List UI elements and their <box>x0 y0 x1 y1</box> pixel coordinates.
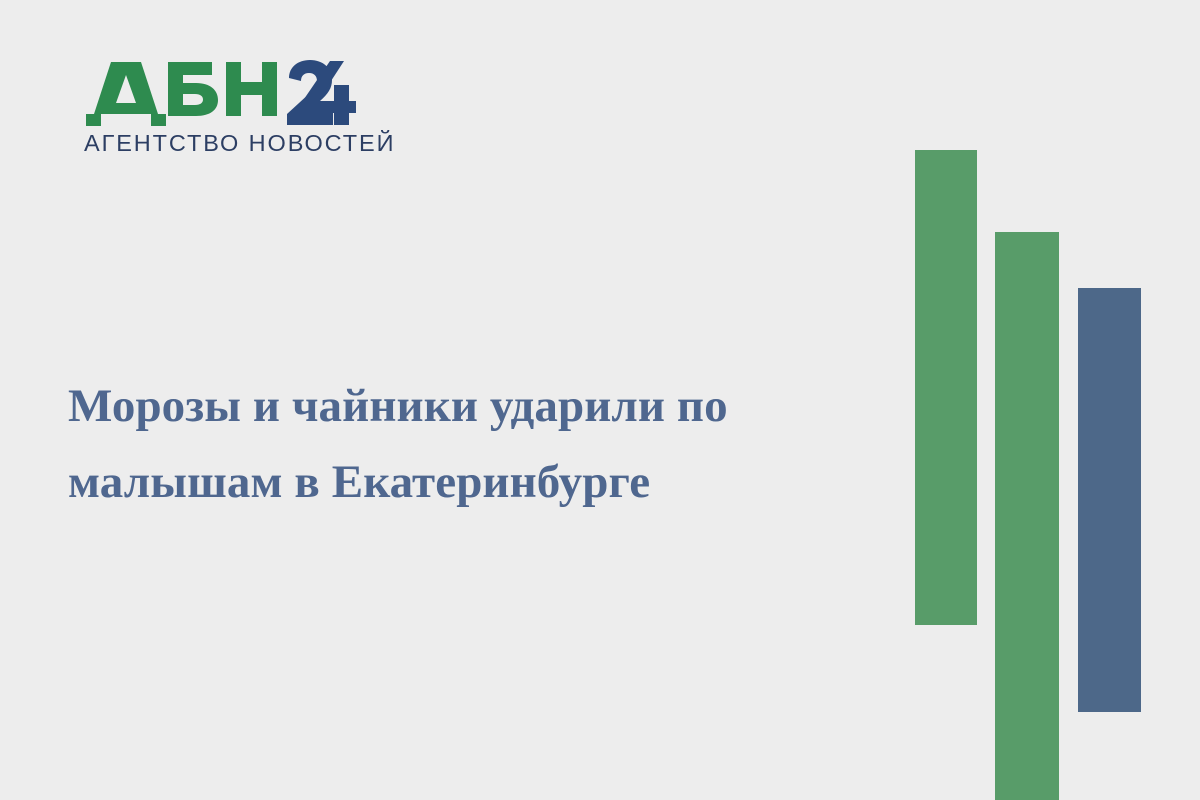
logo-tagline: АГЕНТСТВО НОВОСТЕЙ <box>84 132 374 156</box>
news-card: АГЕНТСТВО НОВОСТЕЙ Морозы и чайники удар… <box>0 0 1200 800</box>
abn24-logo-icon <box>84 56 356 128</box>
page-title: Морозы и чайники ударили по малышам в Ек… <box>68 368 868 520</box>
bar-tall-green <box>915 150 977 625</box>
bar-mid-green <box>995 232 1059 800</box>
bar-short-blue <box>1078 288 1141 712</box>
logo[interactable]: АГЕНТСТВО НОВОСТЕЙ <box>84 56 374 166</box>
